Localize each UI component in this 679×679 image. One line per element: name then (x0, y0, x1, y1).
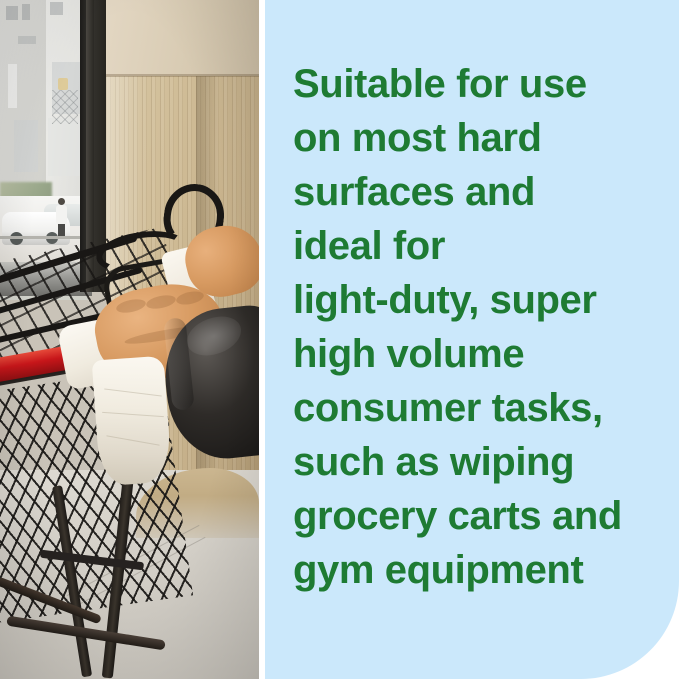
disposable-wipe-hanging (92, 356, 173, 487)
headline-line-6: high volume (293, 327, 665, 381)
wall-upper-panel (106, 0, 259, 78)
building-window (8, 64, 17, 108)
headline-panel: Suitable for use on most hard surfaces a… (265, 0, 679, 679)
headline-line-10: gym equipment (293, 543, 665, 597)
headline-line-2: on most hard (293, 111, 665, 165)
building-window (18, 36, 36, 44)
outdoor-railing (0, 236, 92, 239)
product-use-photo (0, 0, 259, 679)
headline-text-block: Suitable for use on most hard surfaces a… (293, 57, 665, 597)
headline-line-5: light-duty, super (293, 273, 665, 327)
pedestrian-head (58, 198, 65, 205)
building-window (22, 4, 30, 20)
headline-line-7: consumer tasks, (293, 381, 665, 435)
wall-seam (106, 74, 259, 77)
headline-line-4: ideal for (293, 219, 665, 273)
pedestrian-body (56, 205, 67, 225)
headline-line-9: grocery carts and (293, 489, 665, 543)
outdoor-pedestrian (56, 198, 67, 238)
interior-lamp-glow (58, 78, 68, 90)
building-window (50, 2, 63, 15)
building-window (48, 118, 81, 176)
feature-graphic-canvas: Suitable for use on most hard surfaces a… (0, 0, 679, 679)
window-grille (52, 90, 78, 124)
building-window (14, 120, 38, 172)
headline-line-1: Suitable for use (293, 57, 665, 111)
headline-line-8: such as wiping (293, 435, 665, 489)
building-window (6, 6, 18, 20)
headline-line-3: surfaces and (293, 165, 665, 219)
